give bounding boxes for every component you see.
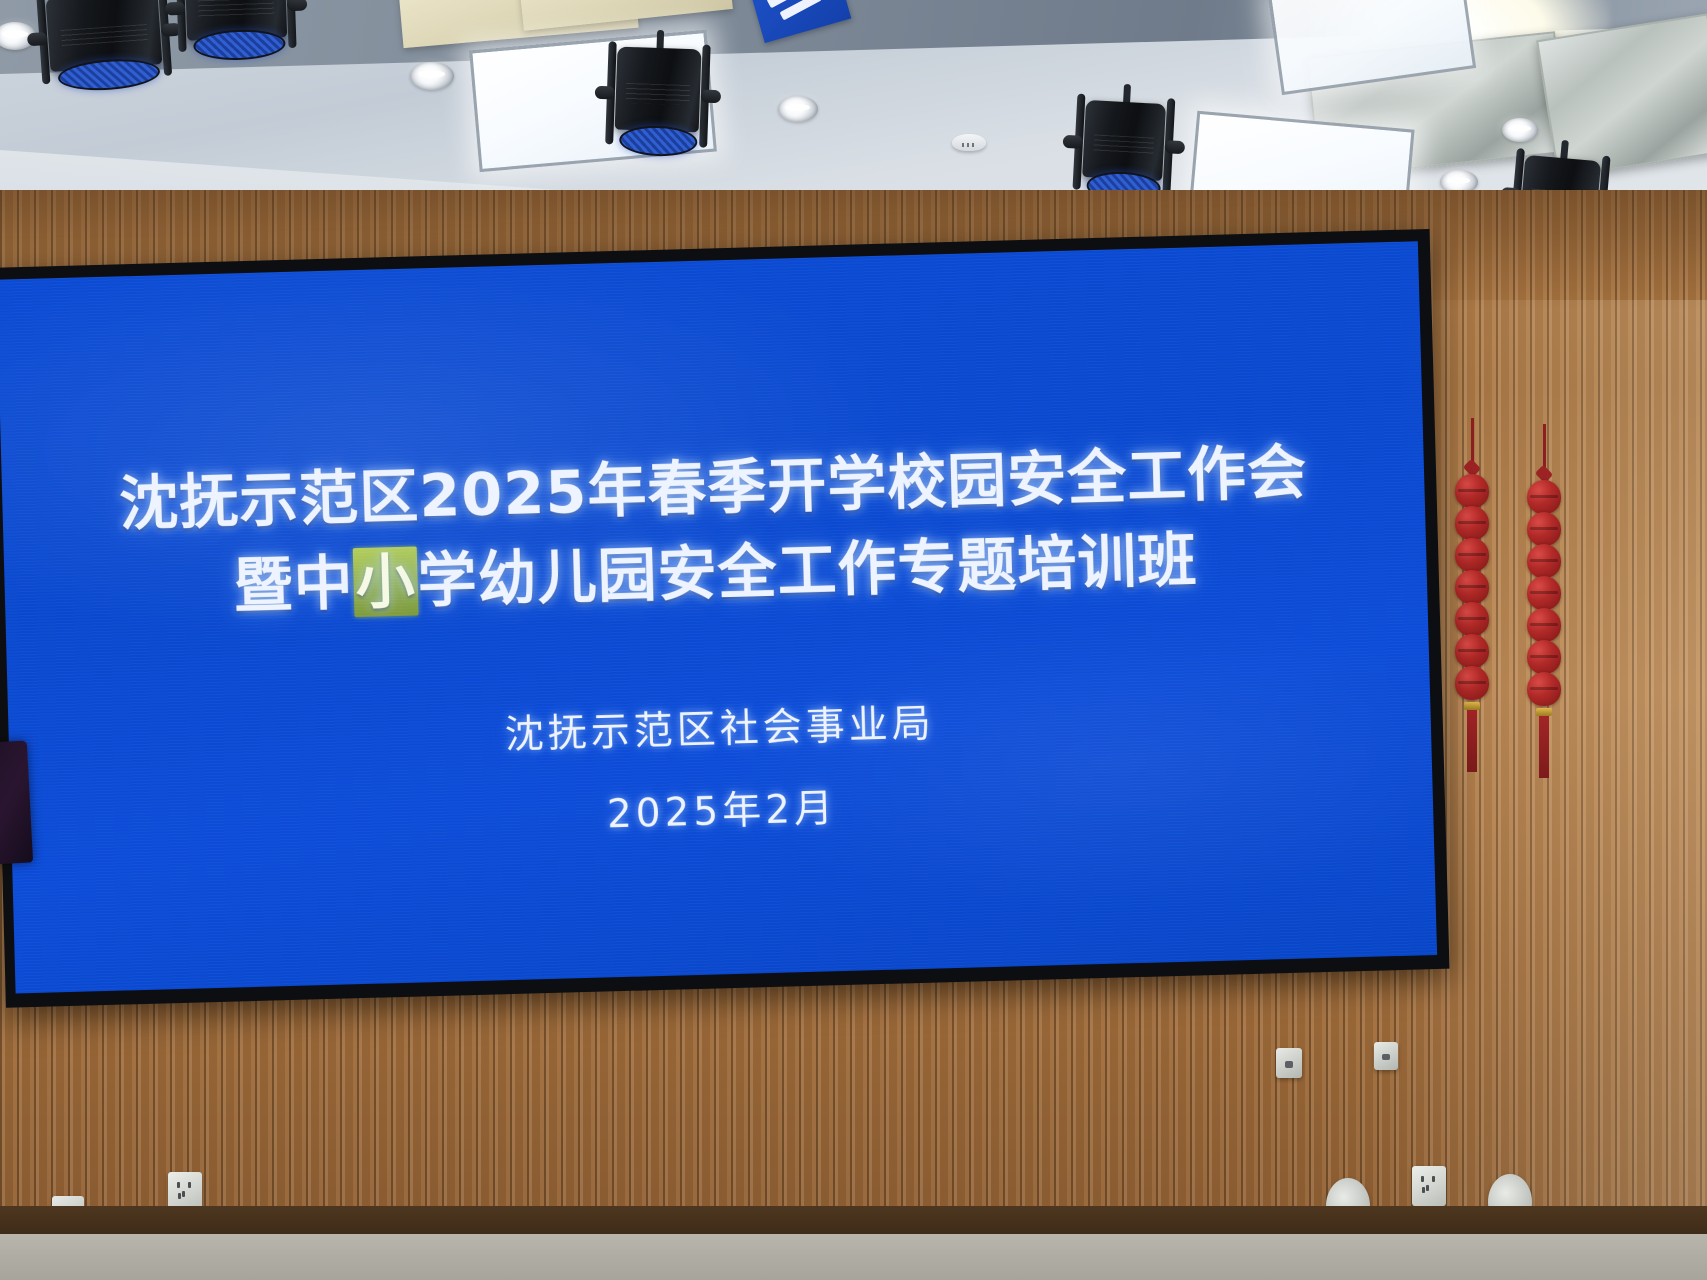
led-display-screen[interactable]: 沈抚示范区2025年春季开学校园安全工作会 暨中小学幼儿园安全工作专题培训班 沈… — [0, 241, 1437, 993]
slide-title: 沈抚示范区2025年春季开学校园安全工作会 暨中小学幼儿园安全工作专题培训班 — [23, 430, 1406, 631]
recessed-downlight-5 — [1502, 118, 1538, 142]
stage-spotlight-2 — [184, 0, 287, 54]
wall-outlet-2[interactable] — [1412, 1166, 1446, 1206]
conference-hall-photo: 沈抚示范区2025年春季开学校园安全工作会 暨中小学幼儿园安全工作专题培训班 沈… — [0, 0, 1707, 1280]
slide-date: 2025年2月 — [606, 777, 838, 839]
presentation-slide: 沈抚示范区2025年春季开学校园安全工作会 暨中小学幼儿园安全工作专题培训班 沈… — [0, 241, 1437, 993]
red-lantern-string-right — [1524, 424, 1564, 844]
stage-spotlight-3 — [614, 35, 702, 150]
recessed-downlight-2 — [410, 62, 454, 90]
slide-title-highlight-char: 小 — [353, 546, 419, 617]
floor — [0, 1234, 1707, 1280]
wall-switch-plate-3[interactable] — [1374, 1042, 1398, 1070]
smoke-detector-icon — [952, 134, 986, 151]
stage-spotlight-1 — [45, 0, 164, 86]
slide-title-line-2-part-b: 学幼儿园安全工作专题培训班 — [417, 525, 1199, 615]
recessed-downlight-3 — [778, 96, 818, 122]
led-display-bezel: 沈抚示范区2025年春季开学校园安全工作会 暨中小学幼儿园安全工作专题培训班 沈… — [0, 229, 1449, 1008]
stage-spotlight-4 — [1081, 88, 1166, 196]
wall-switch-plate-2[interactable] — [1276, 1048, 1302, 1078]
red-lantern-string-left — [1452, 418, 1492, 838]
slide-organization: 沈抚示范区社会事业局 — [504, 693, 935, 761]
slide-title-line-2-part-a: 暨中 — [233, 548, 355, 620]
